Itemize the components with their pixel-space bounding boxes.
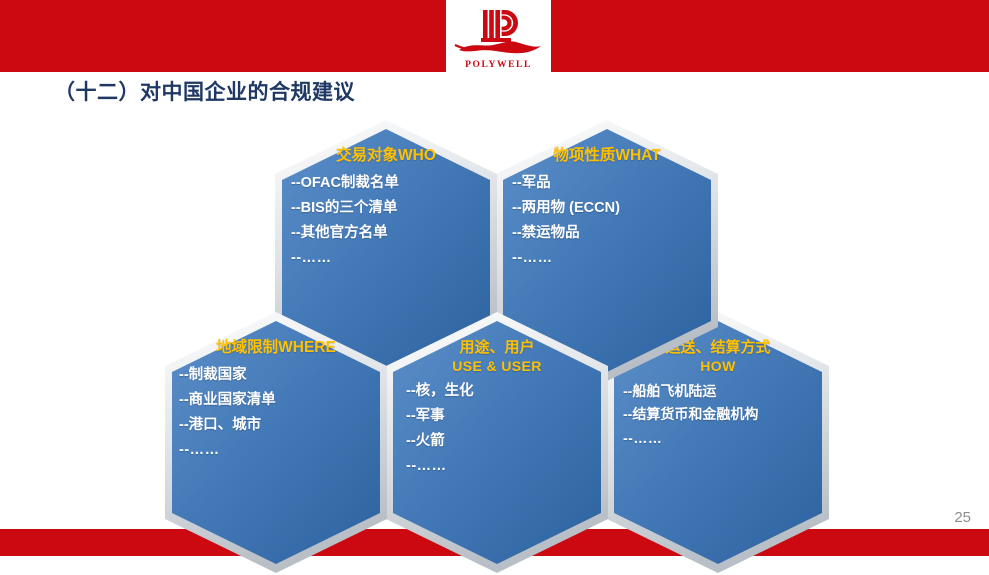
list-item: --商业国家清单 [179,388,375,413]
hexagon-how-subtitle: HOW [619,357,817,375]
logo-container: POLYWELL [446,0,551,72]
hexagon-how-title: 运送、结算方式 [619,338,817,357]
list-item: --禁运物品 [512,221,706,246]
list-item: --结算货币和金融机构 [623,403,817,426]
hexagon-where-title: 地域限制WHERE [177,338,375,357]
bottom-red-bar [0,529,989,556]
list-item: --两用物 (ECCN) [512,196,706,221]
hexagon-what-title: 物项性质WHAT [508,146,706,165]
list-item: --…… [179,438,375,463]
hexagon-use-items: --核，生化 --军事 --火箭 --…… [398,379,596,479]
hexagon-use-title: 用途、用户 [398,338,596,357]
list-item: --军事 [406,404,596,429]
hexagon-where-items: --制裁国家 --商业国家清单 --港口、城市 --…… [177,363,375,463]
list-item: --BIS的三个清单 [291,196,485,221]
hexagon-what-items: --军品 --两用物 (ECCN) --禁运物品 --…… [508,171,706,271]
list-item: --核，生化 [406,379,596,404]
hexagon-use-subtitle: USE & USER [398,357,596,375]
list-item: --火箭 [406,429,596,454]
logo-wordmark: POLYWELL [465,60,532,70]
hexagon-what[interactable]: 物项性质WHAT --军品 --两用物 (ECCN) --禁运物品 --…… [492,118,722,383]
list-item: --OFAC制裁名单 [291,171,485,196]
list-item: --…… [406,454,596,479]
list-item: --其他官方名单 [291,221,485,246]
hexagon-who-title: 交易对象WHO [287,146,485,165]
hexagon-who-items: --OFAC制裁名单 --BIS的三个清单 --其他官方名单 --…… [287,171,485,271]
list-item: --军品 [512,171,706,196]
list-item: --…… [623,426,817,450]
polywell-p-logo-icon [453,4,545,61]
list-item: --港口、城市 [179,413,375,438]
top-red-banner: POLYWELL [0,0,989,72]
hexagon-how-items: --船舶飞机陆运 --结算货币和金融机构 --…… [619,379,817,450]
list-item: --制裁国家 [179,363,375,388]
list-item: --…… [291,246,485,271]
list-item: --…… [512,246,706,271]
hexagon-who[interactable]: 交易对象WHO --OFAC制裁名单 --BIS的三个清单 --其他官方名单 -… [271,118,501,383]
banner-divider [0,72,989,74]
page-title: （十二）对中国企业的合规建议 [54,76,355,106]
list-item: --船舶飞机陆运 [623,379,817,403]
page-number: 25 [954,509,971,526]
